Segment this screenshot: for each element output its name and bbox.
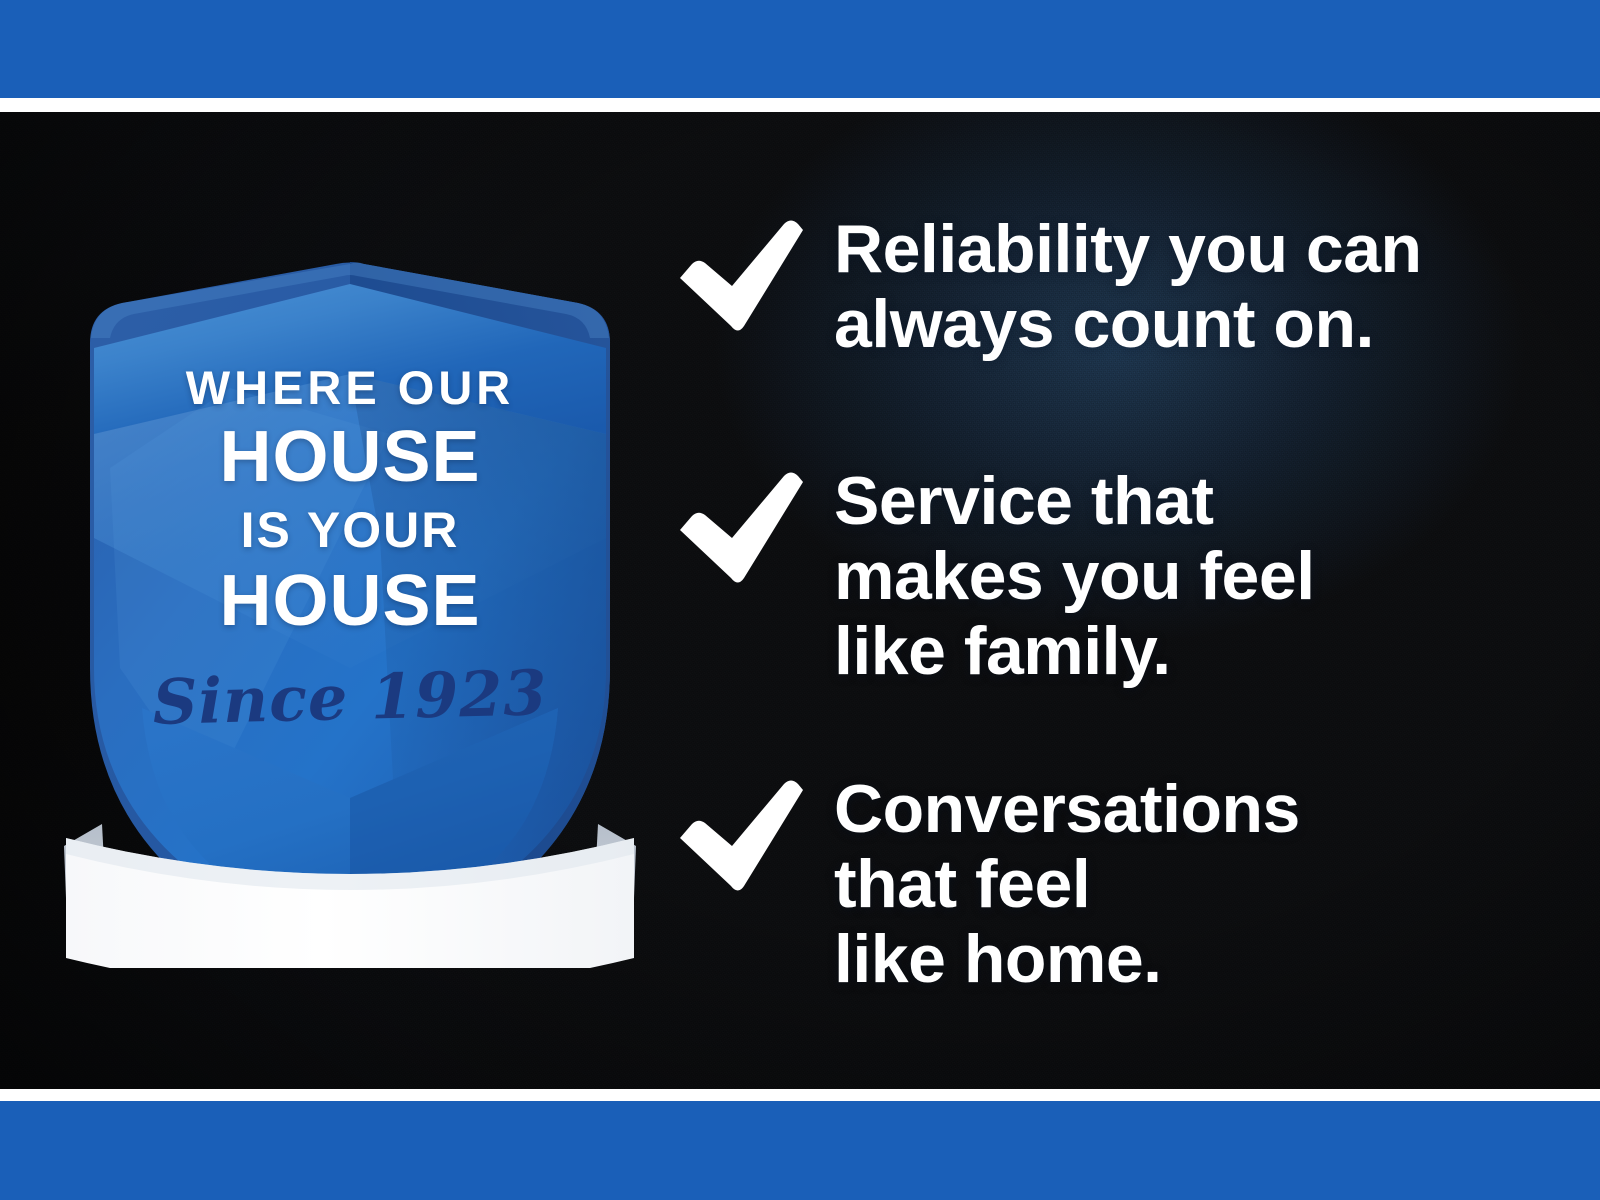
badge-line-2: HOUSE xyxy=(50,416,650,498)
checkmark-icon xyxy=(672,464,804,588)
shield-badge: WHERE OUR HOUSE IS YOUR HOUSE Since 1923 xyxy=(50,238,650,968)
list-item: Conversations that feel like home. xyxy=(672,772,1300,997)
top-white-divider xyxy=(0,98,1600,112)
list-item-text: Service that makes you feel like family. xyxy=(834,464,1315,689)
list-item-text: Conversations that feel like home. xyxy=(834,772,1300,997)
bottom-white-divider xyxy=(0,1089,1600,1101)
checkmark-icon xyxy=(672,212,804,336)
badge-line-3: IS YOUR xyxy=(50,501,650,559)
badge-line-4: HOUSE xyxy=(50,560,650,642)
top-accent-bar xyxy=(0,0,1600,98)
benefits-list: Reliability you can always count on. Ser… xyxy=(672,112,1542,1089)
promo-graphic: WHERE OUR HOUSE IS YOUR HOUSE Since 1923… xyxy=(0,0,1600,1200)
list-item-text: Reliability you can always count on. xyxy=(834,212,1422,362)
bottom-accent-bar xyxy=(0,1101,1600,1200)
badge-line-1: WHERE OUR xyxy=(50,360,650,415)
list-item: Service that makes you feel like family. xyxy=(672,464,1315,689)
badge-since-ribbon-text: Since 1923 xyxy=(49,654,651,742)
checkmark-icon xyxy=(672,772,804,896)
list-item: Reliability you can always count on. xyxy=(672,212,1422,362)
